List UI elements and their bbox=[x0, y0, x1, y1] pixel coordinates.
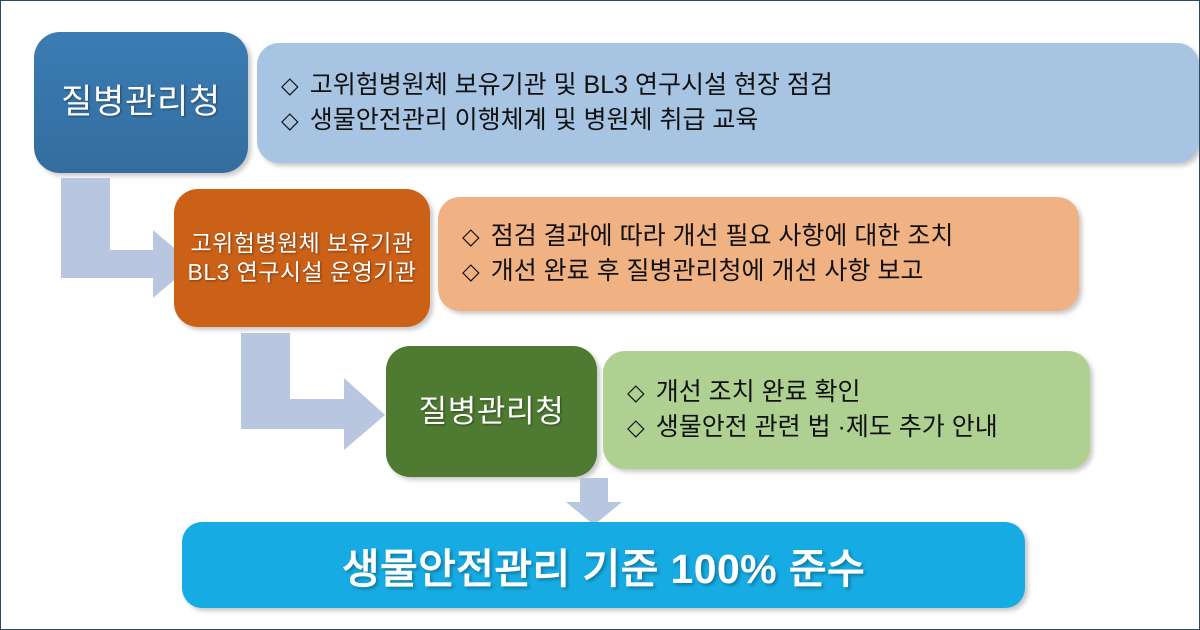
diagram-canvas: 질병관리청 ◇ 고위험병원체 보유기관 및 BL3 연구시설 현장 점검 ◇ 생… bbox=[0, 0, 1200, 630]
detail-line: ◇ 생물안전 관련 법 ·제도 추가 안내 bbox=[627, 410, 998, 446]
actor-box-step-1: 질병관리청 bbox=[34, 32, 248, 173]
detail-text: 점검 결과에 따라 개선 필요 사항에 대한 조치 bbox=[491, 219, 954, 255]
result-banner-text: 생물안전관리 기준 100% 준수 bbox=[342, 535, 865, 595]
detail-text: 개선 조치 완료 확인 bbox=[656, 375, 861, 411]
diamond-bullet-icon: ◇ bbox=[462, 225, 480, 248]
diamond-bullet-icon: ◇ bbox=[462, 260, 480, 283]
actor-label-step-2-line-1: 고위험병원체 보유기관 bbox=[190, 229, 413, 258]
diamond-bullet-icon: ◇ bbox=[627, 416, 645, 439]
actor-label-step-2-line-2: BL3 연구시설 운영기관 bbox=[188, 258, 417, 287]
detail-line: ◇ 개선 조치 완료 확인 bbox=[627, 375, 861, 411]
diamond-bullet-icon: ◇ bbox=[281, 109, 299, 132]
diamond-bullet-icon: ◇ bbox=[281, 74, 299, 97]
actor-box-step-2: 고위험병원체 보유기관 BL3 연구시설 운영기관 bbox=[174, 189, 430, 327]
detail-line: ◇ 생물안전관리 이행체계 및 병원체 취급 교육 bbox=[281, 103, 758, 139]
detail-text: 생물안전관리 이행체계 및 병원체 취급 교육 bbox=[310, 103, 759, 139]
detail-text: 생물안전 관련 법 ·제도 추가 안내 bbox=[656, 410, 998, 446]
diamond-bullet-icon: ◇ bbox=[627, 381, 645, 404]
detail-text: 고위험병원체 보유기관 및 BL3 연구시설 현장 점검 bbox=[310, 68, 833, 104]
detail-text: 개선 완료 후 질병관리청에 개선 사항 보고 bbox=[491, 254, 924, 290]
detail-box-step-1: ◇ 고위험병원체 보유기관 및 BL3 연구시설 현장 점검 ◇ 생물안전관리 … bbox=[257, 43, 1199, 163]
actor-label-step-3: 질병관리청 bbox=[419, 392, 565, 432]
down-arrow-green-to-banner bbox=[564, 478, 624, 526]
detail-line: ◇ 개선 완료 후 질병관리청에 개선 사항 보고 bbox=[462, 254, 923, 290]
bent-arrow-orange-to-green bbox=[236, 333, 388, 451]
detail-line: ◇ 점검 결과에 따라 개선 필요 사항에 대한 조치 bbox=[462, 219, 953, 255]
actor-box-step-3: 질병관리청 bbox=[386, 346, 597, 477]
detail-box-step-2: ◇ 점검 결과에 따라 개선 필요 사항에 대한 조치 ◇ 개선 완료 후 질병… bbox=[438, 197, 1079, 311]
detail-line: ◇ 고위험병원체 보유기관 및 BL3 연구시설 현장 점검 bbox=[281, 68, 833, 104]
actor-label-step-1: 질병관리청 bbox=[61, 81, 221, 125]
detail-box-step-3: ◇ 개선 조치 완료 확인 ◇ 생물안전 관련 법 ·제도 추가 안내 bbox=[603, 351, 1090, 469]
result-banner: 생물안전관리 기준 100% 준수 bbox=[182, 522, 1025, 608]
